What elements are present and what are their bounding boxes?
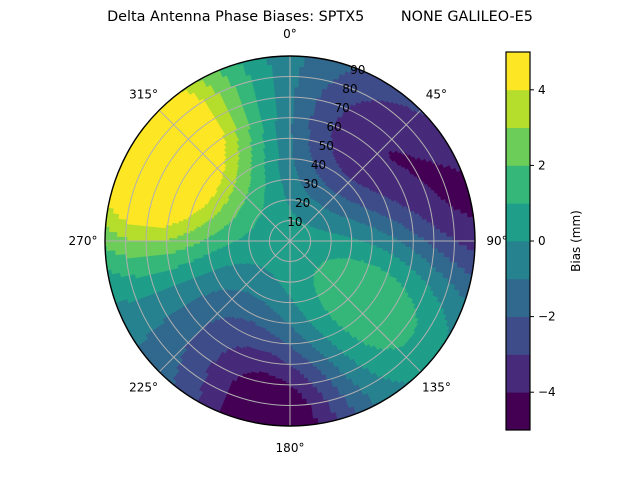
radial-tick-40: 40 — [311, 158, 326, 172]
polar-grid-layer — [105, 56, 475, 426]
page-title: Delta Antenna Phase Biases: SPTX5 NONE G… — [0, 9, 640, 25]
radial-tick-60: 60 — [327, 120, 342, 134]
radial-tick-20: 20 — [295, 196, 310, 210]
colorbar-band-1 — [506, 354, 530, 392]
radial-tick-30: 30 — [303, 177, 318, 191]
colorbar-band-9 — [506, 52, 530, 90]
azimuth-tick-135: 135° — [422, 380, 451, 394]
colorbar-tick-label-4: 4 — [538, 83, 546, 97]
radial-tick-90: 90 — [350, 63, 365, 77]
polar-skyplot-canvas: 0°45°90°135°180°225°270°315° 10203040506… — [0, 0, 640, 480]
azimuth-tick-180: 180° — [276, 441, 305, 455]
colorbar-band-4 — [506, 241, 530, 279]
azimuth-tick-225: 225° — [129, 380, 158, 394]
radial-tick-10: 10 — [287, 215, 302, 229]
colorbar-band-7 — [506, 128, 530, 166]
azimuth-tick-315: 315° — [129, 88, 158, 102]
colorbar-band-8 — [506, 90, 530, 128]
colorbar: −4−2024Bias (mm) — [506, 52, 583, 430]
colorbar-tick-label-2: 2 — [538, 158, 546, 172]
colorbar-tick-label--2: −2 — [538, 310, 556, 324]
colorbar-tick-label--4: −4 — [538, 385, 556, 399]
matplotlib-figure: Delta Antenna Phase Biases: SPTX5 NONE G… — [0, 0, 640, 480]
radial-tick-80: 80 — [342, 82, 357, 96]
colorbar-band-2 — [506, 317, 530, 355]
colorbar-tick-label-0: 0 — [538, 234, 546, 248]
azimuth-tick-90: 90° — [486, 234, 507, 248]
radial-tick-70: 70 — [334, 101, 349, 115]
radial-tick-50: 50 — [319, 139, 334, 153]
colorbar-axis-label: Bias (mm) — [569, 210, 583, 272]
azimuth-tick-270: 270° — [69, 234, 98, 248]
colorbar-band-5 — [506, 203, 530, 241]
azimuth-tick-0: 0° — [283, 27, 297, 41]
colorbar-band-6 — [506, 165, 530, 203]
colorbar-band-0 — [506, 392, 530, 430]
colorbar-band-3 — [506, 279, 530, 317]
azimuth-tick-45: 45° — [426, 88, 447, 102]
